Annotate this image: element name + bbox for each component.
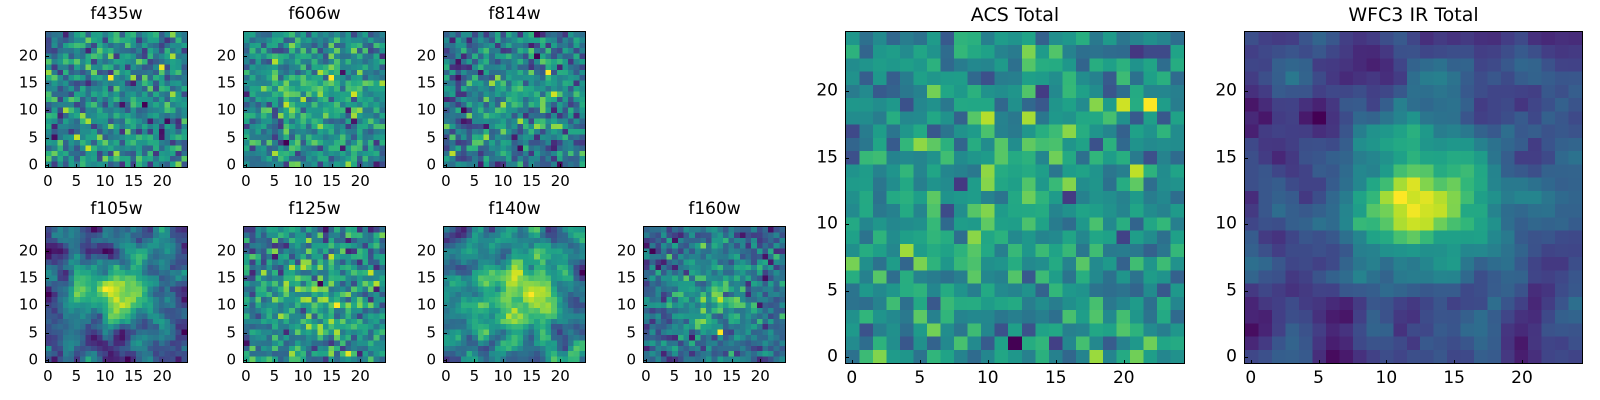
y-tick-mark bbox=[443, 278, 447, 279]
y-tick-label: 15 bbox=[197, 271, 236, 286]
y-tick-mark bbox=[643, 278, 647, 279]
x-tick-label: 20 bbox=[351, 174, 370, 189]
y-tick-label: 15 bbox=[0, 271, 38, 286]
figure-canvas: f435w0510152005101520f606w05101520051015… bbox=[0, 0, 1600, 400]
heatmap-image bbox=[46, 227, 187, 362]
x-tick-mark bbox=[560, 164, 561, 168]
x-tick-mark bbox=[703, 359, 704, 363]
y-tick-label: 20 bbox=[1198, 82, 1237, 99]
panel-title: f435w bbox=[45, 6, 188, 23]
y-tick-mark bbox=[243, 83, 247, 84]
y-tick-mark bbox=[243, 278, 247, 279]
y-tick-mark bbox=[443, 333, 447, 334]
x-tick-mark bbox=[560, 359, 561, 363]
x-tick-mark bbox=[732, 359, 733, 363]
y-tick-label: 5 bbox=[597, 325, 636, 340]
heatmap-image bbox=[444, 32, 585, 167]
y-tick-label: 20 bbox=[397, 48, 436, 63]
y-tick-mark bbox=[1244, 158, 1248, 159]
y-tick-mark bbox=[443, 165, 447, 166]
x-tick-label: 15 bbox=[124, 369, 143, 384]
x-tick-label: 10 bbox=[1376, 370, 1398, 387]
x-tick-label: 15 bbox=[522, 174, 541, 189]
y-tick-label: 10 bbox=[597, 298, 636, 313]
heatmap-axes bbox=[45, 31, 188, 168]
x-tick-label: 15 bbox=[322, 369, 341, 384]
heatmap-image bbox=[644, 227, 785, 362]
y-tick-mark bbox=[845, 291, 849, 292]
x-tick-label: 10 bbox=[494, 174, 513, 189]
panel-title: f105w bbox=[45, 201, 188, 218]
x-tick-mark bbox=[360, 164, 361, 168]
y-tick-mark bbox=[443, 360, 447, 361]
x-tick-label: 20 bbox=[551, 174, 570, 189]
x-tick-label: 0 bbox=[43, 174, 53, 189]
y-tick-mark bbox=[443, 56, 447, 57]
x-tick-mark bbox=[105, 359, 106, 363]
x-tick-mark bbox=[1056, 360, 1057, 364]
x-tick-mark bbox=[303, 359, 304, 363]
subplot-acs-total: ACS Total0510152005101520 bbox=[799, 4, 1231, 397]
x-tick-label: 15 bbox=[1443, 370, 1465, 387]
y-tick-mark bbox=[45, 165, 49, 166]
y-tick-label: 15 bbox=[397, 271, 436, 286]
x-tick-mark bbox=[274, 359, 275, 363]
x-tick-mark bbox=[674, 359, 675, 363]
y-tick-mark bbox=[243, 360, 247, 361]
x-tick-mark bbox=[274, 164, 275, 168]
y-tick-label: 20 bbox=[197, 48, 236, 63]
y-tick-label: 15 bbox=[799, 149, 838, 166]
subplot-f814w: f814w0510152005101520 bbox=[397, 4, 632, 201]
y-tick-mark bbox=[45, 360, 49, 361]
x-tick-mark bbox=[760, 359, 761, 363]
x-tick-label: 15 bbox=[522, 369, 541, 384]
y-tick-label: 20 bbox=[0, 243, 38, 258]
heatmap-image bbox=[1245, 32, 1582, 363]
y-tick-mark bbox=[45, 333, 49, 334]
y-tick-mark bbox=[45, 83, 49, 84]
y-tick-label: 15 bbox=[0, 76, 38, 91]
y-tick-label: 20 bbox=[197, 243, 236, 258]
y-tick-label: 10 bbox=[1198, 216, 1237, 233]
y-tick-label: 5 bbox=[197, 130, 236, 145]
x-tick-label: 0 bbox=[846, 370, 857, 387]
x-tick-mark bbox=[162, 359, 163, 363]
y-tick-mark bbox=[45, 251, 49, 252]
heatmap-image bbox=[444, 227, 585, 362]
x-tick-label: 20 bbox=[153, 369, 172, 384]
heatmap-axes bbox=[643, 226, 786, 363]
x-tick-label: 15 bbox=[322, 174, 341, 189]
x-tick-label: 0 bbox=[641, 369, 651, 384]
x-tick-mark bbox=[920, 360, 921, 364]
x-tick-label: 20 bbox=[153, 174, 172, 189]
y-tick-mark bbox=[45, 278, 49, 279]
x-tick-mark bbox=[988, 360, 989, 364]
y-tick-label: 15 bbox=[597, 271, 636, 286]
y-tick-mark bbox=[45, 138, 49, 139]
y-tick-mark bbox=[443, 83, 447, 84]
x-tick-label: 0 bbox=[1245, 370, 1256, 387]
y-tick-label: 15 bbox=[397, 76, 436, 91]
y-tick-label: 0 bbox=[799, 349, 838, 366]
subplot-wfc3-ir-total: WFC3 IR Total0510152005101520 bbox=[1198, 4, 1600, 397]
y-tick-mark bbox=[845, 158, 849, 159]
y-tick-label: 5 bbox=[799, 282, 838, 299]
x-tick-label: 10 bbox=[294, 369, 313, 384]
x-tick-mark bbox=[332, 164, 333, 168]
y-tick-mark bbox=[845, 357, 849, 358]
y-tick-mark bbox=[243, 56, 247, 57]
panel-title: f160w bbox=[643, 201, 786, 218]
y-tick-label: 0 bbox=[197, 158, 236, 173]
heatmap-image bbox=[846, 32, 1184, 363]
y-tick-label: 5 bbox=[1198, 282, 1237, 299]
y-tick-label: 10 bbox=[0, 298, 38, 313]
y-tick-mark bbox=[1244, 91, 1248, 92]
x-tick-mark bbox=[852, 360, 853, 364]
heatmap-axes bbox=[1244, 31, 1583, 364]
x-tick-mark bbox=[162, 164, 163, 168]
heatmap-axes bbox=[845, 31, 1185, 364]
x-tick-mark bbox=[532, 164, 533, 168]
x-tick-label: 5 bbox=[270, 369, 280, 384]
heatmap-axes bbox=[443, 31, 586, 168]
x-tick-label: 20 bbox=[551, 369, 570, 384]
y-tick-mark bbox=[443, 251, 447, 252]
y-tick-label: 10 bbox=[397, 298, 436, 313]
x-tick-mark bbox=[1522, 360, 1523, 364]
y-tick-mark bbox=[643, 333, 647, 334]
heatmap-axes bbox=[45, 226, 188, 363]
panel-title: f606w bbox=[243, 6, 386, 23]
y-tick-label: 5 bbox=[397, 130, 436, 145]
x-tick-mark bbox=[532, 359, 533, 363]
x-tick-label: 0 bbox=[241, 174, 251, 189]
y-tick-mark bbox=[1244, 224, 1248, 225]
panel-title: ACS Total bbox=[845, 6, 1185, 25]
x-tick-label: 5 bbox=[470, 369, 480, 384]
y-tick-label: 10 bbox=[0, 103, 38, 118]
y-tick-label: 20 bbox=[597, 243, 636, 258]
x-tick-label: 5 bbox=[670, 369, 680, 384]
panel-title: f125w bbox=[243, 201, 386, 218]
y-tick-mark bbox=[243, 251, 247, 252]
y-tick-mark bbox=[243, 138, 247, 139]
x-tick-mark bbox=[76, 359, 77, 363]
x-tick-mark bbox=[474, 359, 475, 363]
y-tick-label: 20 bbox=[397, 243, 436, 258]
y-tick-label: 5 bbox=[0, 325, 38, 340]
x-tick-mark bbox=[503, 164, 504, 168]
y-tick-mark bbox=[243, 305, 247, 306]
y-tick-mark bbox=[45, 110, 49, 111]
y-tick-mark bbox=[643, 305, 647, 306]
y-tick-label: 15 bbox=[1198, 149, 1237, 166]
x-tick-mark bbox=[134, 164, 135, 168]
x-tick-label: 10 bbox=[494, 369, 513, 384]
heatmap-image bbox=[46, 32, 187, 167]
y-tick-mark bbox=[1244, 357, 1248, 358]
y-tick-label: 20 bbox=[0, 48, 38, 63]
x-tick-mark bbox=[474, 164, 475, 168]
panel-title: f140w bbox=[443, 201, 586, 218]
heatmap-axes bbox=[243, 226, 386, 363]
y-tick-label: 0 bbox=[397, 353, 436, 368]
y-tick-label: 5 bbox=[197, 325, 236, 340]
x-tick-label: 15 bbox=[722, 369, 741, 384]
y-tick-mark bbox=[643, 360, 647, 361]
x-tick-label: 5 bbox=[470, 174, 480, 189]
y-tick-label: 10 bbox=[197, 298, 236, 313]
heatmap-axes bbox=[243, 31, 386, 168]
x-tick-label: 10 bbox=[694, 369, 713, 384]
x-tick-label: 15 bbox=[124, 174, 143, 189]
x-tick-label: 20 bbox=[1511, 370, 1533, 387]
y-tick-label: 15 bbox=[197, 76, 236, 91]
y-tick-label: 0 bbox=[0, 353, 38, 368]
x-tick-label: 20 bbox=[1113, 370, 1135, 387]
y-tick-mark bbox=[243, 333, 247, 334]
x-tick-label: 5 bbox=[914, 370, 925, 387]
y-tick-mark bbox=[243, 110, 247, 111]
x-tick-label: 5 bbox=[270, 174, 280, 189]
x-tick-mark bbox=[105, 164, 106, 168]
x-tick-mark bbox=[332, 359, 333, 363]
y-tick-label: 5 bbox=[0, 130, 38, 145]
y-tick-label: 0 bbox=[0, 158, 38, 173]
y-tick-mark bbox=[443, 305, 447, 306]
x-tick-label: 5 bbox=[72, 369, 82, 384]
y-tick-mark bbox=[845, 91, 849, 92]
y-tick-label: 5 bbox=[397, 325, 436, 340]
y-tick-label: 0 bbox=[197, 353, 236, 368]
x-tick-mark bbox=[76, 164, 77, 168]
y-tick-mark bbox=[1244, 291, 1248, 292]
y-tick-label: 0 bbox=[1198, 349, 1237, 366]
y-tick-label: 10 bbox=[397, 103, 436, 118]
x-tick-label: 5 bbox=[1313, 370, 1324, 387]
heatmap-axes bbox=[443, 226, 586, 363]
y-tick-label: 0 bbox=[597, 353, 636, 368]
x-tick-mark bbox=[134, 359, 135, 363]
x-tick-mark bbox=[303, 164, 304, 168]
y-tick-label: 20 bbox=[799, 82, 838, 99]
x-tick-mark bbox=[1251, 360, 1252, 364]
y-tick-mark bbox=[45, 305, 49, 306]
y-tick-label: 10 bbox=[799, 216, 838, 233]
x-tick-label: 10 bbox=[977, 370, 999, 387]
x-tick-label: 0 bbox=[241, 369, 251, 384]
x-tick-label: 0 bbox=[43, 369, 53, 384]
y-tick-mark bbox=[643, 251, 647, 252]
panel-title: WFC3 IR Total bbox=[1244, 6, 1583, 25]
heatmap-image bbox=[244, 227, 385, 362]
x-tick-mark bbox=[360, 359, 361, 363]
x-tick-label: 10 bbox=[96, 369, 115, 384]
y-tick-mark bbox=[443, 110, 447, 111]
y-tick-mark bbox=[845, 224, 849, 225]
x-tick-label: 10 bbox=[96, 174, 115, 189]
x-tick-label: 20 bbox=[751, 369, 770, 384]
x-tick-label: 15 bbox=[1045, 370, 1067, 387]
subplot-f160w: f160w0510152005101520 bbox=[597, 199, 832, 396]
y-tick-label: 0 bbox=[397, 158, 436, 173]
x-tick-label: 5 bbox=[72, 174, 82, 189]
x-tick-label: 0 bbox=[441, 369, 451, 384]
x-tick-mark bbox=[1454, 360, 1455, 364]
y-tick-label: 10 bbox=[197, 103, 236, 118]
x-tick-mark bbox=[1319, 360, 1320, 364]
x-tick-mark bbox=[503, 359, 504, 363]
y-tick-mark bbox=[443, 138, 447, 139]
x-tick-mark bbox=[1124, 360, 1125, 364]
x-tick-mark bbox=[1386, 360, 1387, 364]
panel-title: f814w bbox=[443, 6, 586, 23]
y-tick-mark bbox=[243, 165, 247, 166]
x-tick-label: 10 bbox=[294, 174, 313, 189]
heatmap-image bbox=[244, 32, 385, 167]
y-tick-mark bbox=[45, 56, 49, 57]
x-tick-label: 20 bbox=[351, 369, 370, 384]
x-tick-label: 0 bbox=[441, 174, 451, 189]
